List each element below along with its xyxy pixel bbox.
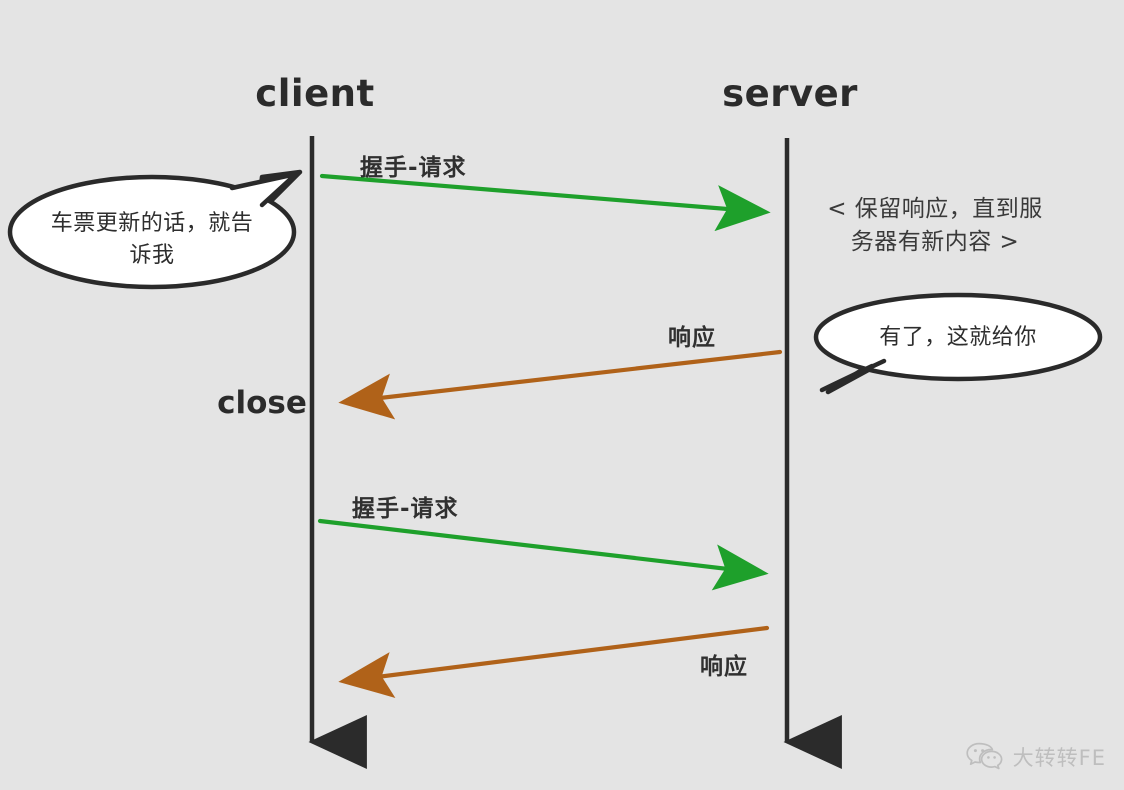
message-arrow-response-1	[345, 352, 780, 402]
watermark-text: 大转转FE	[1013, 742, 1106, 772]
message-arrow-handshake-request-2	[320, 521, 762, 573]
close-label: close	[217, 385, 307, 421]
client-bubble-shape	[10, 172, 300, 287]
participant-label-server: server	[722, 72, 858, 115]
wechat-icon	[966, 742, 1004, 772]
sequence-diagram-canvas: client server 握手-请求 响应 握手-请求 响应 close < …	[0, 0, 1124, 790]
watermark: 大转转FE	[966, 742, 1106, 772]
diagram-vector-layer	[0, 0, 1124, 790]
annotation-hold-response: < 保留响应，直到服 务器有新内容 >	[805, 193, 1065, 260]
message-label-handshake-request-1: 握手-请求	[360, 148, 467, 182]
message-label-response-1: 响应	[668, 318, 716, 352]
participant-label-client: client	[255, 72, 374, 115]
message-label-response-2: 响应	[700, 647, 748, 681]
server-bubble-shape	[816, 295, 1100, 392]
message-label-handshake-request-2: 握手-请求	[352, 489, 459, 523]
